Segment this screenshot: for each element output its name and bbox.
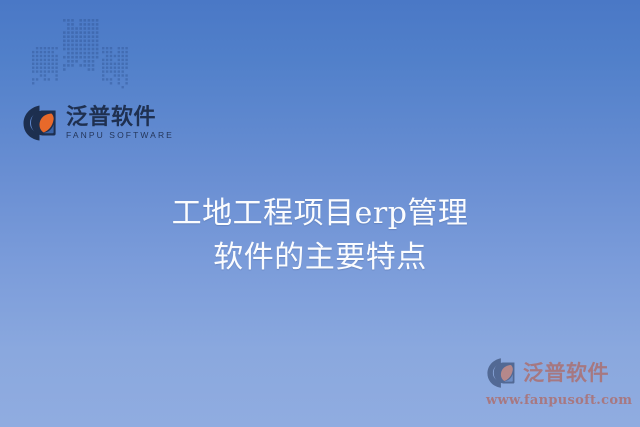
- page-title: 工地工程项目erp管理 软件的主要特点: [0, 192, 640, 280]
- watermark-logo-row: 泛普软件: [486, 355, 628, 391]
- pixel-building-mosaic-icon: [30, 14, 140, 106]
- watermark: 泛普软件 www.fanpusoft.com: [486, 355, 628, 415]
- page-title-line-1: 工地工程项目erp管理: [0, 192, 640, 236]
- brand-name-cn: 泛普软件: [66, 106, 174, 128]
- watermark-url: www.fanpusoft.com: [486, 393, 628, 408]
- slide-canvas: 泛普软件 FANPU SOFTWARE 工地工程项目erp管理 软件的主要特点 …: [0, 0, 640, 427]
- page-title-line-2: 软件的主要特点: [0, 236, 640, 280]
- brand-wordmark: 泛普软件 FANPU SOFTWARE: [66, 106, 174, 140]
- watermark-name-cn: 泛普软件: [523, 363, 609, 384]
- brand-name-en: FANPU SOFTWARE: [66, 131, 174, 140]
- fanpu-logo-mark-icon: [22, 104, 62, 142]
- fanpu-logo-mark-watermark-icon: [486, 357, 520, 389]
- brand-logo: 泛普软件 FANPU SOFTWARE: [22, 99, 152, 147]
